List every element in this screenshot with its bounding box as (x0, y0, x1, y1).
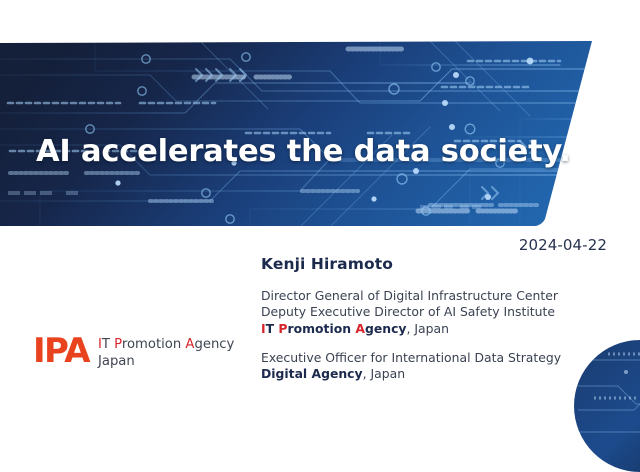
org-text: T (266, 321, 279, 336)
ipa-wordmark: IT Promotion Agency Japan (98, 333, 234, 370)
affiliation-role: Director General of Digital Infrastructu… (261, 288, 601, 304)
ipa-wordmark-line-1: IT Promotion Agency (98, 337, 234, 354)
org-text: gency (365, 321, 407, 336)
affiliation-digital-agency: Executive Officer for International Data… (261, 350, 601, 383)
wordmark-text: gency (194, 337, 234, 352)
affiliation-role: Executive Officer for International Data… (261, 350, 601, 366)
org-text: romotion (288, 321, 356, 336)
affiliation-ipa: Director General of Digital Infrastructu… (261, 288, 601, 337)
ipa-logo: IPA IT Promotion Agency Japan (33, 333, 234, 370)
org-initial: A (355, 321, 365, 336)
hero-title: AI accelerates the data society. (36, 134, 571, 169)
speaker-name: Kenji Hiramoto (261, 255, 601, 273)
speaker-block: Kenji Hiramoto Director General of Digit… (261, 255, 601, 395)
wordmark-text: romotion (122, 337, 186, 352)
org-text: Digital Agency (261, 366, 363, 381)
affiliation-organization: IT Promotion Agency, Japan (261, 321, 601, 337)
affiliation-organization: Digital Agency, Japan (261, 366, 601, 382)
org-country: , Japan (407, 321, 449, 336)
org-initial: P (278, 321, 287, 336)
ipa-wordmark-line-2: Japan (98, 354, 234, 371)
presentation-slide: AI accelerates the data society. (0, 0, 640, 453)
hero-banner: AI accelerates the data society. (0, 41, 640, 226)
ipa-logo-mark: IPA (33, 333, 89, 369)
wordmark-text: T (102, 337, 114, 352)
wordmark-initial: P (114, 337, 122, 352)
org-country: , Japan (363, 366, 405, 381)
presentation-date: 2024-04-22 (519, 236, 607, 254)
affiliation-role: Deputy Executive Director of AI Safety I… (261, 304, 601, 320)
